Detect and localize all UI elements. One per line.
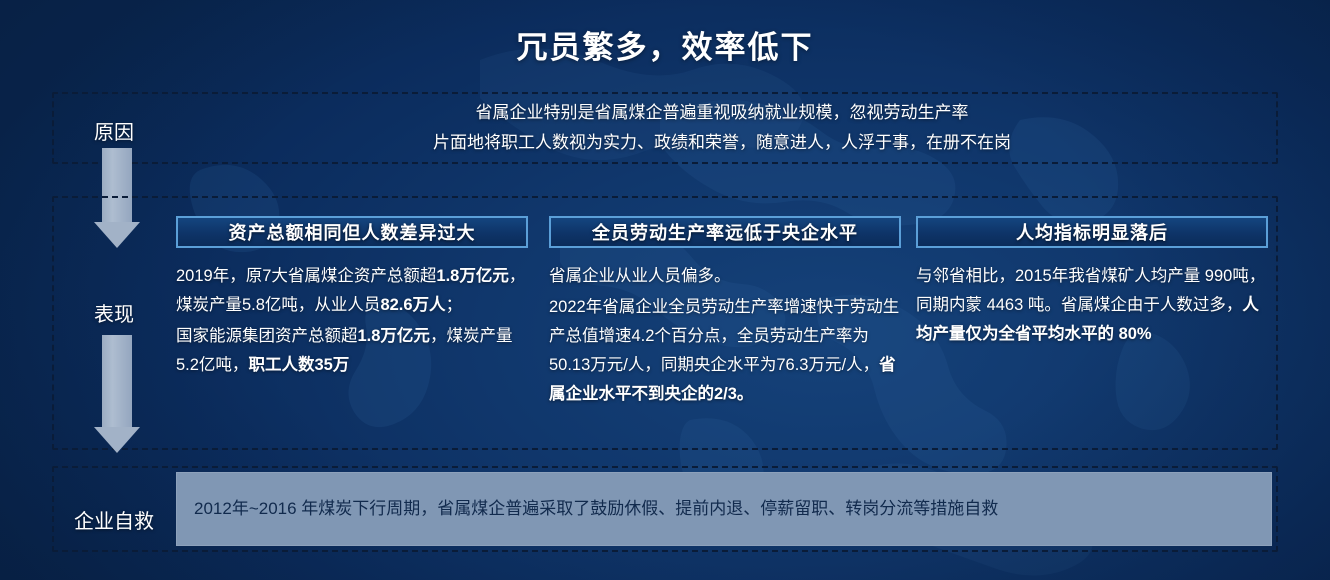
manifestation-column-2: 全员劳动生产率远低于央企水平 省属企业从业人员偏多。2022年省属企业全员劳动生… bbox=[549, 216, 901, 411]
cause-text-block: 省属企业特别是省属煤企普遍重视吸纳就业规模，忽视劳动生产率 片面地将职工人数视为… bbox=[182, 98, 1262, 158]
column-header-3: 人均指标明显落后 bbox=[916, 216, 1268, 248]
body-text: 2019年，原7大省属煤企资产总额超 bbox=[176, 267, 436, 285]
body-text: ； bbox=[446, 296, 463, 314]
column-body-1: 2019年，原7大省属煤企资产总额超1.8万亿元，煤炭产量5.8亿吨，从业人员8… bbox=[176, 262, 528, 380]
manifestation-row-label: 表现 bbox=[58, 298, 170, 327]
arrow-head bbox=[94, 427, 140, 453]
paragraph: 省属企业从业人员偏多。 bbox=[549, 262, 901, 291]
self-rescue-text: 2012年~2016 年煤炭下行周期，省属煤企普遍采取了鼓励休假、提前内退、停薪… bbox=[176, 496, 1016, 522]
body-text: 与邻省相比，2015年我省煤矿人均产量 990吨，同期内蒙 4463 吨。省属煤… bbox=[916, 267, 1265, 314]
down-arrow-manifestation-to-selfrescue bbox=[94, 335, 140, 453]
column-header-1: 资产总额相同但人数差异过大 bbox=[176, 216, 528, 248]
body-text: 2022年省属企业全员劳动生产率增速快于劳动生产总值增速4.2个百分点，全员劳动… bbox=[549, 298, 899, 374]
paragraph: 2019年，原7大省属煤企资产总额超1.8万亿元，煤炭产量5.8亿吨，从业人员8… bbox=[176, 262, 528, 320]
self-rescue-bar: 2012年~2016 年煤炭下行周期，省属煤企普遍采取了鼓励休假、提前内退、停薪… bbox=[176, 472, 1272, 546]
emphasis-text: 1.8万亿元 bbox=[436, 267, 508, 285]
cause-row-label: 原因 bbox=[58, 116, 170, 145]
self-rescue-row-label: 企业自救 bbox=[52, 505, 176, 534]
emphasis-text: 职工人数35万 bbox=[248, 356, 349, 374]
column-body-2: 省属企业从业人员偏多。2022年省属企业全员劳动生产率增速快于劳动生产总值增速4… bbox=[549, 262, 901, 409]
cause-line-1: 省属企业特别是省属煤企普遍重视吸纳就业规模，忽视劳动生产率 bbox=[182, 98, 1262, 128]
page-title: 冗员繁多，效率低下 bbox=[0, 22, 1330, 67]
column-header-2: 全员劳动生产率远低于央企水平 bbox=[549, 216, 901, 248]
paragraph: 国家能源集团资产总额超1.8万亿元，煤炭产量5.2亿吨，职工人数35万 bbox=[176, 322, 528, 380]
manifestation-column-3: 人均指标明显落后 与邻省相比，2015年我省煤矿人均产量 990吨，同期内蒙 4… bbox=[916, 216, 1268, 351]
arrow-shaft bbox=[102, 335, 132, 427]
emphasis-text: 1.8万亿元 bbox=[358, 327, 430, 345]
body-text: 省属企业从业人员偏多。 bbox=[549, 267, 731, 285]
paragraph: 2022年省属企业全员劳动生产率增速快于劳动生产总值增速4.2个百分点，全员劳动… bbox=[549, 293, 901, 409]
manifestation-column-1: 资产总额相同但人数差异过大 2019年，原7大省属煤企资产总额超1.8万亿元，煤… bbox=[176, 216, 528, 382]
emphasis-text: 82.6万人 bbox=[380, 296, 445, 314]
cause-line-2: 片面地将职工人数视为实力、政绩和荣誉，随意进人，人浮于事，在册不在岗 bbox=[182, 128, 1262, 158]
paragraph: 与邻省相比，2015年我省煤矿人均产量 990吨，同期内蒙 4463 吨。省属煤… bbox=[916, 262, 1268, 349]
column-body-3: 与邻省相比，2015年我省煤矿人均产量 990吨，同期内蒙 4463 吨。省属煤… bbox=[916, 262, 1268, 349]
body-text: 国家能源集团资产总额超 bbox=[176, 327, 358, 345]
